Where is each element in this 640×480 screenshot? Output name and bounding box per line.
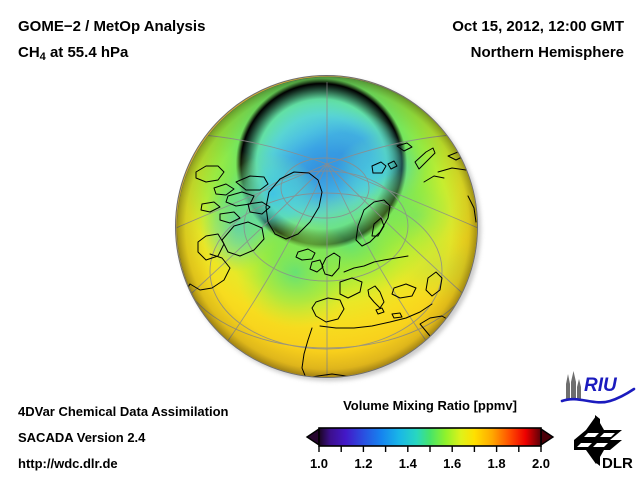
riu-logo: RIU bbox=[560, 370, 636, 408]
colorbar-tick-label: 1.4 bbox=[399, 456, 418, 471]
colorbar-tick-label: 1.2 bbox=[354, 456, 372, 471]
datetime-label: Oct 15, 2012, 12:00 GMT bbox=[452, 18, 624, 35]
footer-line-version: SACADA Version 2.4 bbox=[18, 430, 145, 445]
colorbar-ticks bbox=[319, 446, 541, 452]
colorbar-svg: 1.01.21.41.61.82.0 bbox=[305, 417, 555, 475]
colorbar-gradient-bar bbox=[319, 428, 541, 446]
dlr-logo: DLR bbox=[566, 414, 634, 472]
colorbar-tick-label: 1.8 bbox=[488, 456, 506, 471]
colorbar: Volume Mixing Ratio [ppmv] 1.01.21.41.61… bbox=[305, 398, 555, 480]
footer-line-method: 4DVar Chemical Data Assimilation bbox=[18, 404, 229, 419]
globe-map bbox=[175, 75, 478, 378]
colorbar-tick-labels: 1.01.21.41.61.82.0 bbox=[310, 456, 550, 471]
colorbar-high-arrow bbox=[541, 429, 553, 445]
species-prefix: CH bbox=[18, 44, 40, 61]
colorbar-tick-label: 1.6 bbox=[443, 456, 461, 471]
species-suffix: at 55.4 hPa bbox=[46, 44, 129, 61]
colorbar-title: Volume Mixing Ratio [ppmv] bbox=[305, 398, 555, 413]
region-label: Northern Hemisphere bbox=[471, 44, 624, 61]
colorbar-tick-label: 1.0 bbox=[310, 456, 328, 471]
colorbar-tick-label: 2.0 bbox=[532, 456, 550, 471]
globe-disc bbox=[175, 75, 478, 378]
globe-svg bbox=[176, 76, 478, 378]
footer-line-url: http://wdc.dlr.de bbox=[18, 456, 118, 471]
riu-wordmark: RIU bbox=[584, 375, 618, 396]
species-level-label: CH4 at 55.4 hPa bbox=[18, 44, 128, 63]
dlr-wordmark: DLR bbox=[602, 455, 633, 472]
colorbar-scale: 1.01.21.41.61.82.0 bbox=[305, 417, 555, 480]
riu-tower-icon bbox=[566, 371, 581, 400]
page-title: GOME−2 / MetOp Analysis bbox=[18, 18, 205, 35]
colorbar-low-arrow bbox=[307, 429, 319, 445]
